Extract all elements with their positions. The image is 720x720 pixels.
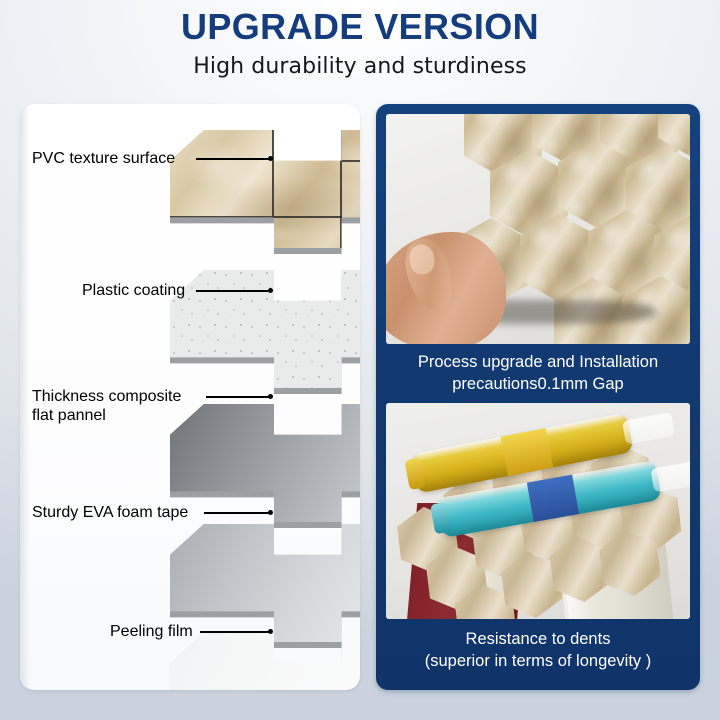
- eva-face: [170, 524, 360, 642]
- leader-dot: [268, 394, 273, 399]
- layer-pvc-texture-surface: [170, 130, 360, 248]
- leader-dot: [268, 629, 273, 634]
- layer-composite-flat-panel: [170, 404, 360, 522]
- leader-line: [196, 290, 270, 292]
- tile-face: [170, 130, 360, 248]
- header: UPGRADE VERSION High durability and stur…: [0, 6, 720, 82]
- leader-dot: [268, 510, 273, 515]
- layer-diagram-card: PVC texture surface Plastic coating Thic…: [20, 104, 360, 690]
- grout-line: [340, 130, 342, 248]
- callout-pvc-texture-surface: PVC texture surface: [32, 149, 175, 168]
- callout-label: Sturdy EVA foam tape: [32, 503, 188, 522]
- page-title: UPGRADE VERSION: [0, 6, 720, 48]
- thumbnail: [407, 243, 436, 276]
- bottle-label-band: [527, 474, 579, 521]
- callout-plastic-coating: Plastic coating: [82, 281, 185, 300]
- panel-face: [170, 404, 360, 522]
- leader-line: [196, 158, 270, 160]
- hand: [386, 232, 506, 344]
- layer-peeling-film: [170, 632, 360, 690]
- layer-plastic-coating: [170, 270, 360, 388]
- callout-composite-flat-panel: Thickness composite flat pannel: [32, 387, 181, 425]
- leader-line: [200, 631, 270, 633]
- callout-eva-foam-tape: Sturdy EVA foam tape: [32, 503, 188, 522]
- coating-face: [170, 270, 360, 388]
- callout-label: Plastic coating: [82, 281, 185, 300]
- callout-peeling-film: Peeling film: [110, 622, 193, 641]
- photo-panel: Process upgrade and Installation precaut…: [376, 104, 700, 690]
- leader-dot: [268, 288, 273, 293]
- callout-label: PVC texture surface: [32, 149, 175, 168]
- leader-dot: [268, 156, 273, 161]
- callout-label: Peeling film: [110, 622, 193, 641]
- infographic-root: UPGRADE VERSION High durability and stur…: [0, 0, 720, 720]
- page-subtitle: High durability and sturdiness: [0, 52, 720, 82]
- thumb: [399, 233, 460, 316]
- grout-line: [342, 160, 360, 162]
- photo-caption-installation: Process upgrade and Installation precaut…: [386, 344, 690, 403]
- leader-line: [206, 396, 270, 398]
- photo-caption-dents: Resistance to dents (superior in terms o…: [386, 619, 690, 680]
- leader-line: [204, 512, 270, 514]
- photo-installation-gap: [386, 114, 690, 344]
- photo-dent-resistance: [386, 403, 690, 619]
- layer-eva-foam-tape: [170, 524, 360, 642]
- film-face: [170, 632, 360, 690]
- grout-line: [272, 130, 274, 248]
- callout-label: Thickness composite flat pannel: [32, 387, 181, 425]
- stone-mottle-texture: [170, 130, 360, 248]
- bottle-label-band: [501, 428, 554, 476]
